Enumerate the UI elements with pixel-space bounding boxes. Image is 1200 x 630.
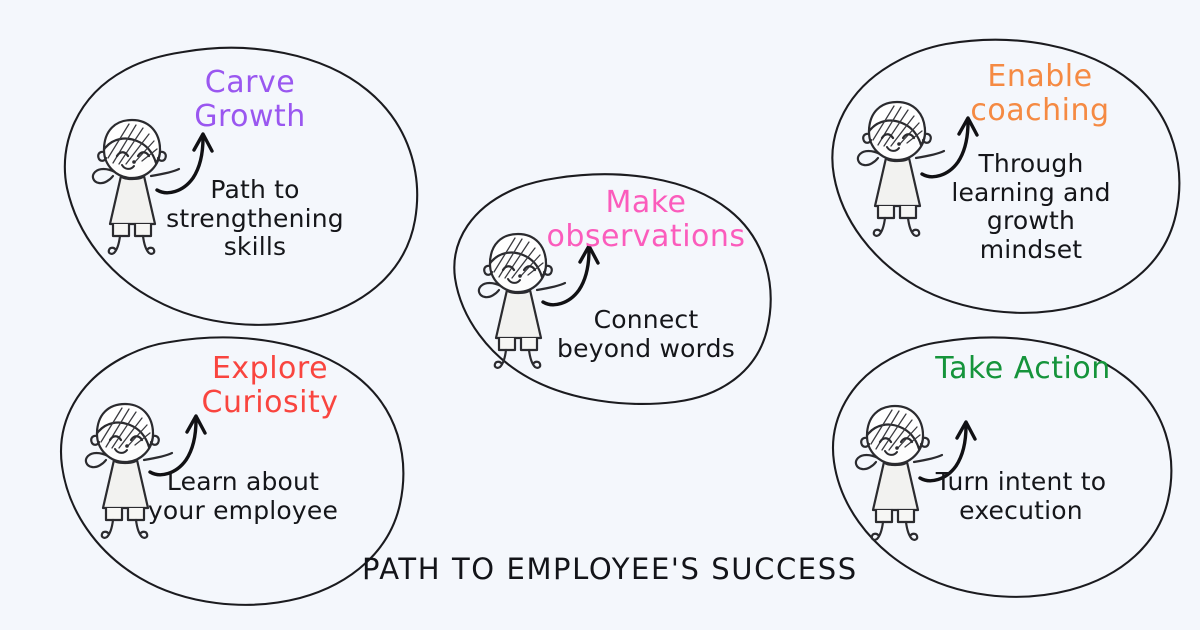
infographic-canvas: Carve Growth Path to strengthening skill… — [0, 0, 1200, 630]
diagram-caption: PATH TO EMPLOYEE'S SUCCESS — [362, 552, 858, 586]
blob-subtext-carve-growth: Path to strengthening skills — [145, 176, 365, 262]
blob-subtext-explore-curiosity: Learn about your employee — [118, 468, 368, 525]
blob-heading-take-action: Take Action — [888, 352, 1158, 386]
blob-subtext-make-observations: Connect beyond words — [521, 306, 771, 363]
blob-take-action: Take Action Turn intent to execution — [818, 330, 1178, 605]
blob-make-observations: Make observations Connect beyond words — [445, 168, 775, 408]
blob-subtext-enable-coaching: Through learning and growth mindset — [916, 150, 1146, 264]
blob-heading-carve-growth: Carve Growth — [150, 66, 350, 133]
blob-explore-curiosity: Explore Curiosity Learn about your emplo… — [50, 330, 410, 610]
blob-subtext-take-action: Turn intent to execution — [886, 468, 1156, 525]
blob-heading-explore-curiosity: Explore Curiosity — [170, 352, 370, 419]
blob-heading-enable-coaching: Enable coaching — [930, 60, 1150, 127]
blob-heading-make-observations: Make observations — [521, 186, 771, 253]
blob-carve-growth: Carve Growth Path to strengthening skill… — [55, 38, 425, 328]
blob-enable-coaching: Enable coaching Through learning and gro… — [820, 30, 1185, 320]
